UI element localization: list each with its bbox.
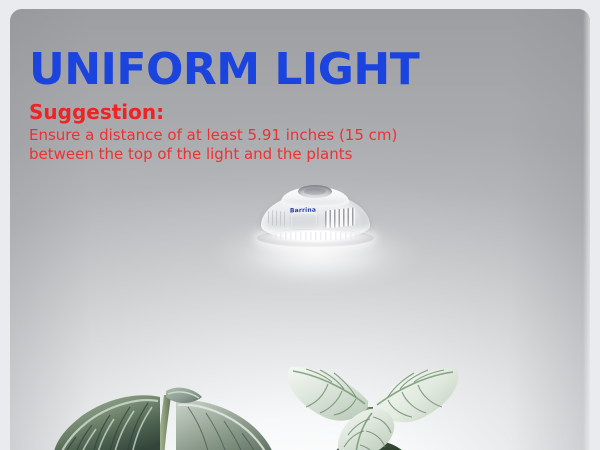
alocasia-plant-left (52, 361, 282, 450)
suggestion-body-line-2: between the top of the light and the pla… (29, 145, 549, 164)
product-scene: UNIFORM LIGHT Suggestion: Ensure a dista… (10, 9, 590, 450)
plant-left-leaf-1 (54, 395, 160, 450)
suggestion-label: Suggestion: (29, 101, 549, 123)
plant-right-graphic (272, 355, 472, 450)
lamp-vent-grille (325, 207, 355, 228)
headline-block: UNIFORM LIGHT Suggestion: Ensure a dista… (29, 47, 549, 164)
plant-left-leaf-3 (166, 388, 202, 403)
poster-root: UNIFORM LIGHT Suggestion: Ensure a dista… (0, 0, 600, 450)
lamp-socket-inner (304, 188, 326, 195)
plant-left-graphic (52, 361, 282, 450)
lamp-led-ring-dots (265, 232, 366, 240)
alocasia-plant-right (272, 355, 472, 450)
grow-light-lamp: Barrina (253, 185, 378, 257)
background-right-glint (583, 9, 590, 450)
lamp-left-ribs (268, 210, 288, 227)
page-title: UNIFORM LIGHT (29, 47, 549, 93)
suggestion-body-line-1: Ensure a distance of at least 5.91 inche… (29, 126, 549, 145)
suggestion-body: Ensure a distance of at least 5.91 inche… (29, 126, 549, 164)
plant-left-leaf-2 (176, 400, 275, 450)
plant-right-leaf-1 (288, 367, 368, 421)
lamp-brand-label: Barrina (288, 205, 318, 215)
